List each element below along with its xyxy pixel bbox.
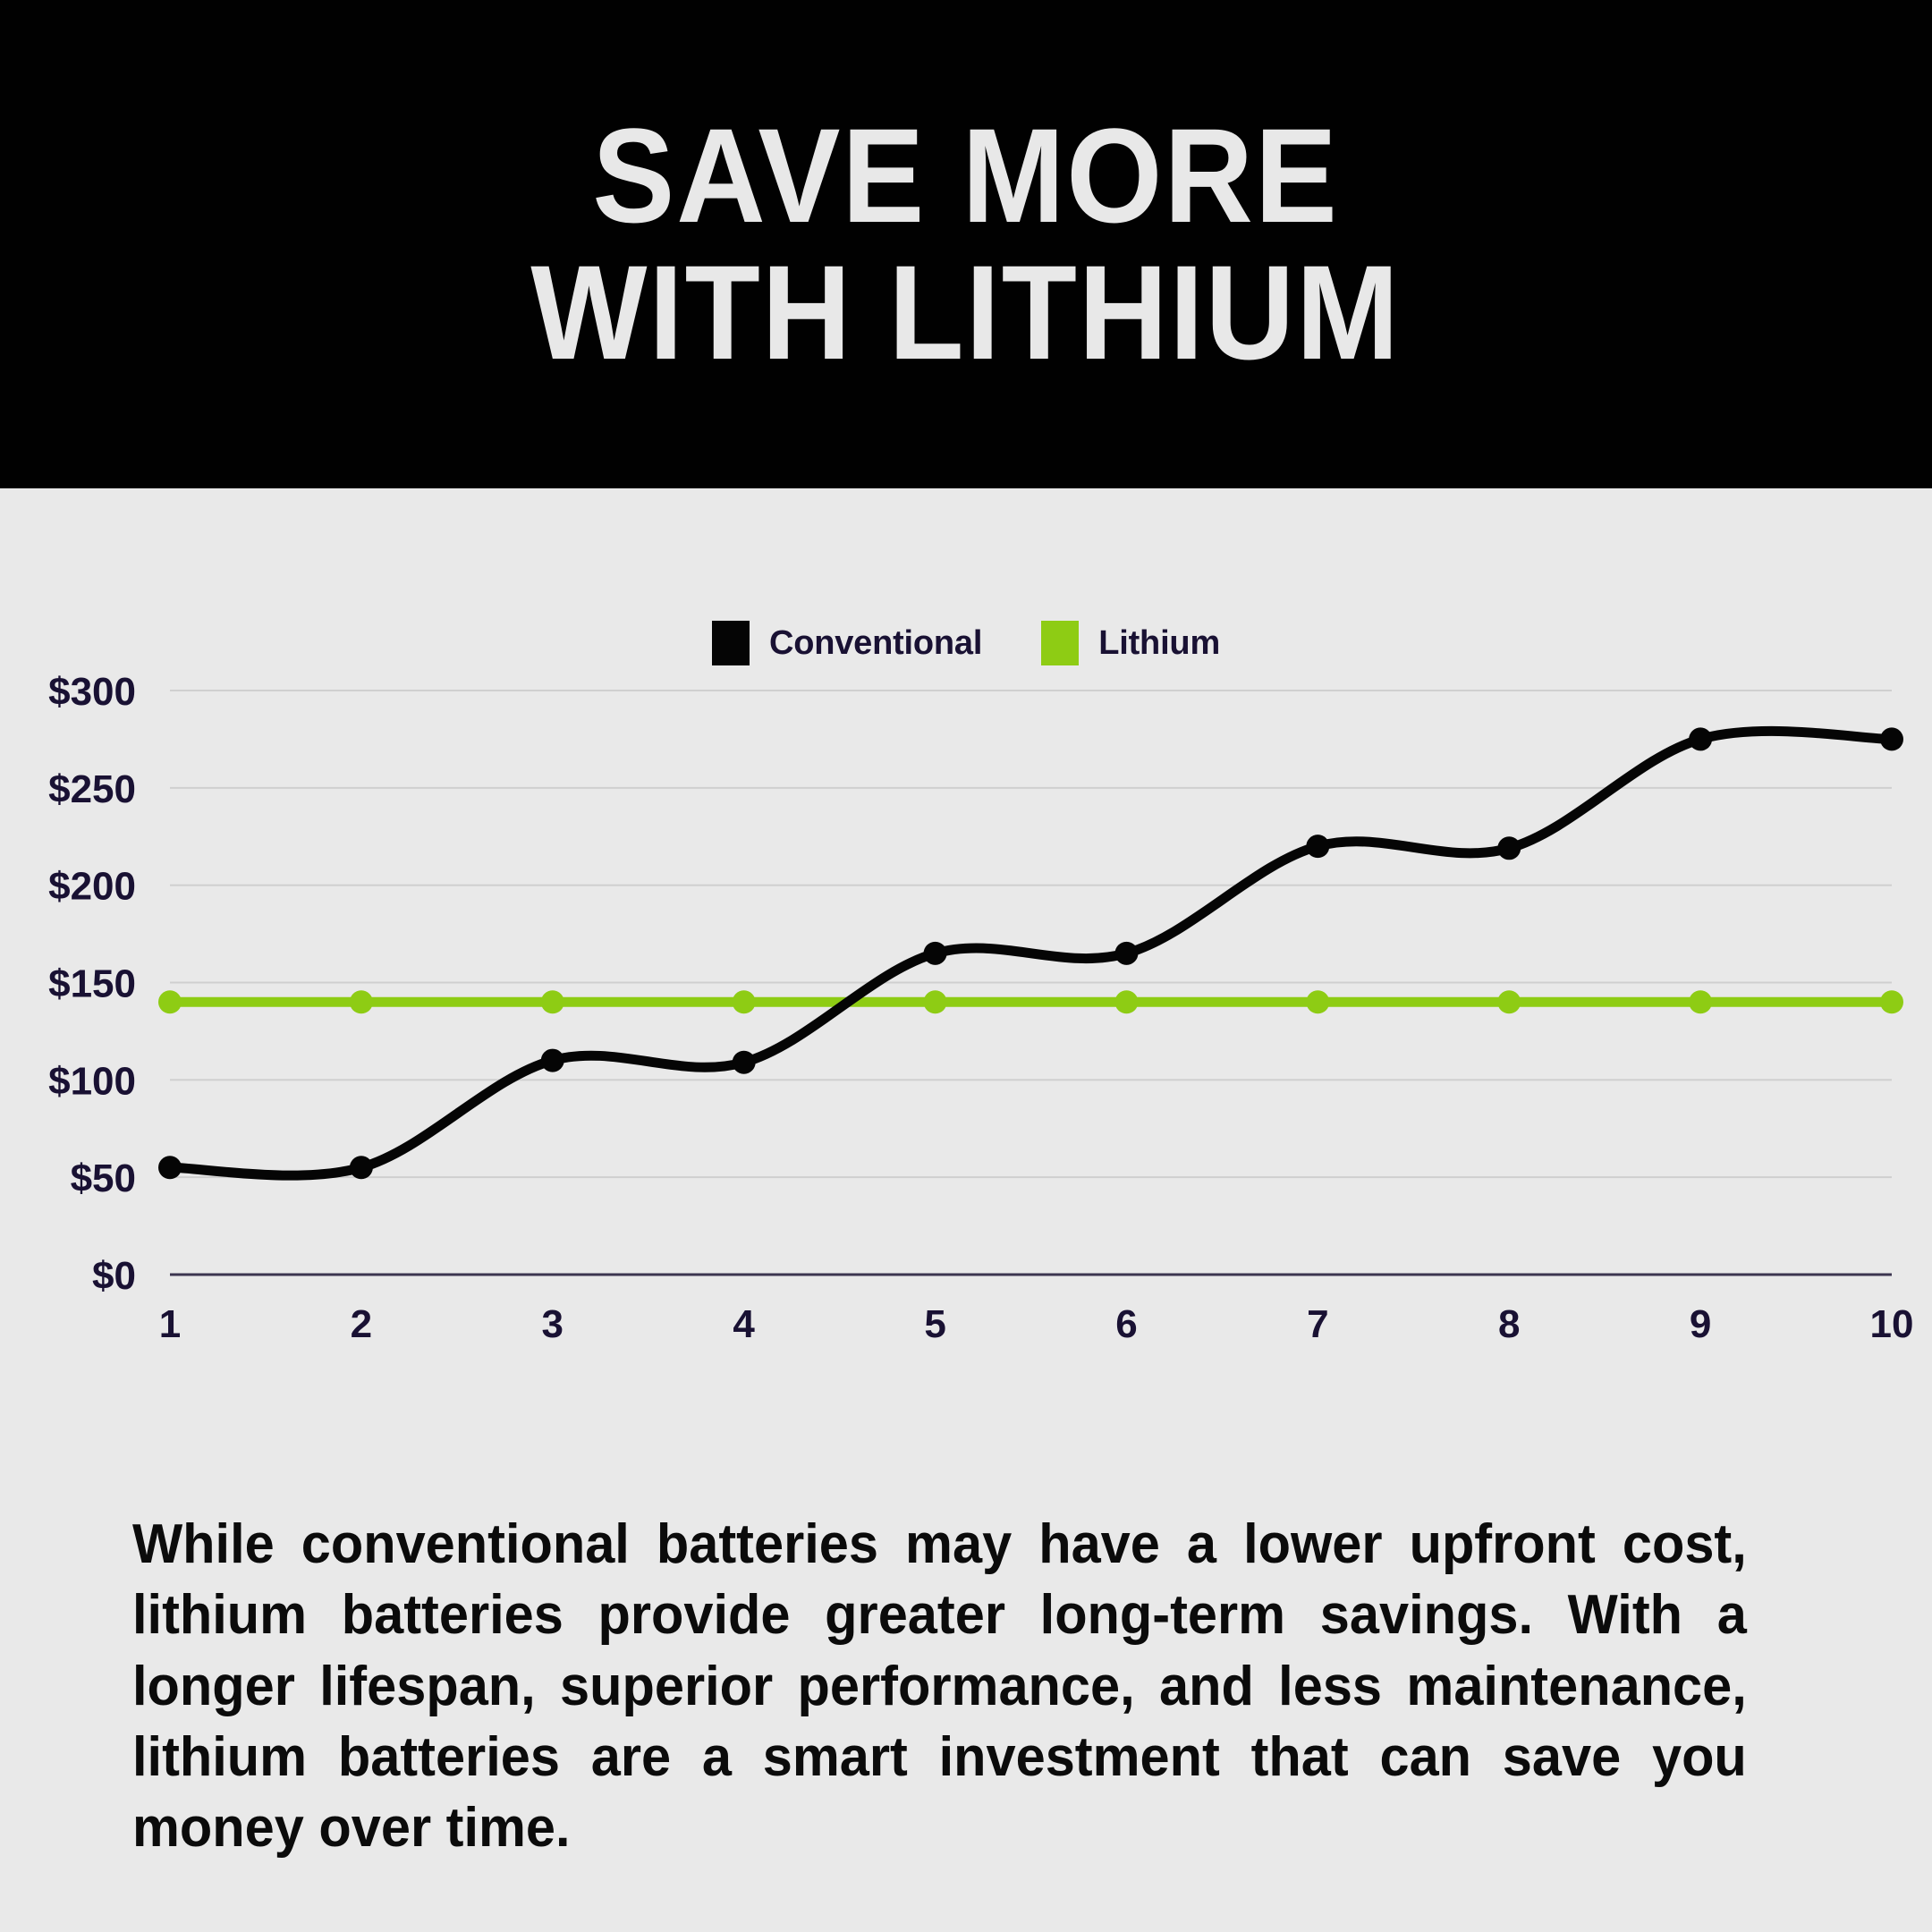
x-axis-tick-label: 6 <box>1115 1302 1137 1346</box>
y-axis-tick-label: $0 <box>92 1254 136 1298</box>
x-axis-tick-label: 2 <box>351 1302 372 1346</box>
data-point-conventional[interactable] <box>924 942 947 965</box>
data-point-conventional[interactable] <box>541 1049 564 1072</box>
y-axis-tick-label: $300 <box>48 670 136 714</box>
x-axis-tick-label: 7 <box>1307 1302 1328 1346</box>
x-axis-tick-label: 3 <box>542 1302 563 1346</box>
data-point-lithium[interactable] <box>733 990 756 1013</box>
data-point-lithium[interactable] <box>1880 990 1903 1013</box>
y-axis-tick-label: $50 <box>71 1157 136 1200</box>
plot-area: $0$50$100$150$200$250$30012345678910 <box>0 488 1932 1428</box>
data-point-lithium[interactable] <box>350 990 373 1013</box>
data-point-lithium[interactable] <box>1689 990 1712 1013</box>
data-point-conventional[interactable] <box>1306 835 1329 858</box>
x-axis-tick-label: 5 <box>924 1302 945 1346</box>
data-point-lithium[interactable] <box>924 990 947 1013</box>
x-axis-tick-label: 1 <box>159 1302 181 1346</box>
y-axis-tick-label: $200 <box>48 865 136 909</box>
x-axis-tick-label: 4 <box>733 1302 755 1346</box>
y-axis-tick-label: $250 <box>48 767 136 811</box>
data-point-conventional[interactable] <box>1114 942 1138 965</box>
data-point-lithium[interactable] <box>158 990 182 1013</box>
x-axis-tick-label: 10 <box>1870 1302 1914 1346</box>
x-axis-tick-label: 9 <box>1690 1302 1711 1346</box>
y-axis-tick-label: $100 <box>48 1059 136 1103</box>
data-point-lithium[interactable] <box>1114 990 1138 1013</box>
data-point-lithium[interactable] <box>1306 990 1329 1013</box>
y-axis-tick-label: $150 <box>48 962 136 1006</box>
description-paragraph: While conventional batteries may have a … <box>132 1509 1747 1864</box>
data-point-lithium[interactable] <box>541 990 564 1013</box>
data-point-conventional[interactable] <box>158 1156 182 1179</box>
page-title-line-1: SAVE MORE <box>593 107 1339 244</box>
chart-region: Conventional Lithium $0$50$100$150$200$2… <box>0 488 1932 1428</box>
line-chart-svg: $0$50$100$150$200$250$30012345678910 <box>0 488 1932 1428</box>
header-banner: SAVE MORE WITH LITHIUM <box>0 0 1932 488</box>
series-line-conventional <box>170 731 1892 1175</box>
page-title-line-2: WITH LITHIUM <box>531 244 1402 381</box>
data-point-conventional[interactable] <box>350 1156 373 1179</box>
data-point-conventional[interactable] <box>1497 836 1521 860</box>
data-point-lithium[interactable] <box>1497 990 1521 1013</box>
data-point-conventional[interactable] <box>1880 727 1903 750</box>
data-point-conventional[interactable] <box>733 1051 756 1074</box>
x-axis-tick-label: 8 <box>1498 1302 1520 1346</box>
data-point-conventional[interactable] <box>1689 727 1712 750</box>
